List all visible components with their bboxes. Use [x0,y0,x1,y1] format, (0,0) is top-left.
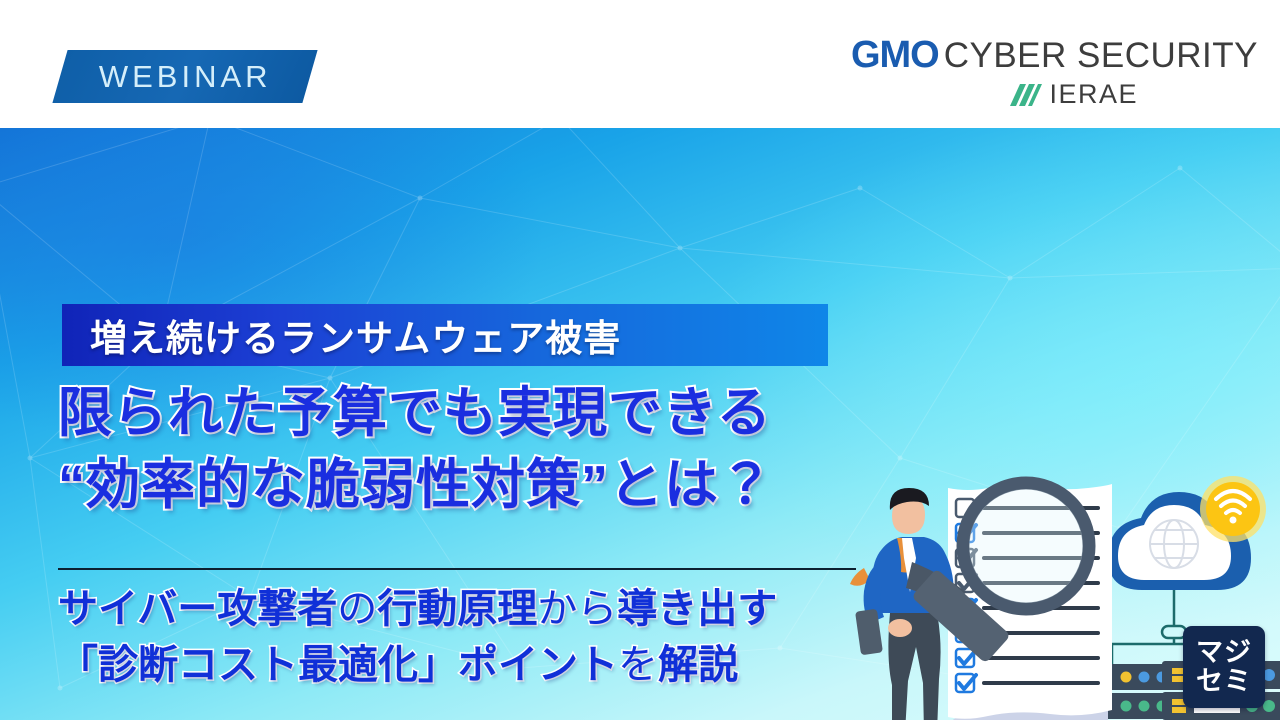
ribbon-label: 増え続けるランサムウェア被害 [90,308,621,362]
webinar-badge-label: WEBINAR [99,59,272,95]
divider-top [58,568,856,570]
subheadline-line-1: サイバー攻撃者の行動原理から導き出す [58,584,958,635]
ierae-wordmark: IERAE [1049,81,1138,108]
headline-line-2: “効率的な脆弱性対策”とは？ [58,450,978,522]
header-bar: WEBINAR GMO CYBER SECURITY IERAE [0,0,1280,128]
sub1-part3: 行動原理 [377,587,537,631]
brand-primary-row: GMO CYBER SECURITY [851,36,1258,74]
brand-logo: GMO CYBER SECURITY IERAE [851,36,1258,108]
ribbon-banner: 増え続けるランサムウェア被害 [62,304,828,366]
sub1-part1: サイバー攻撃者 [58,587,337,631]
gmo-wordmark: GMO [851,36,939,74]
webinar-badge: WEBINAR [52,50,317,103]
majisemi-line-2: セミ [1196,667,1252,696]
hero-section: 増え続けるランサムウェア被害 限られた予算でも実現できる “効率的な脆弱性対策”… [0,128,1280,720]
sub1-part2: の [337,587,377,631]
sub2-part1: 「診断コスト最適化」 [58,643,458,687]
wifi-badge-icon [1200,476,1266,542]
headline-line-1: 限られた予算でも実現できる [58,378,978,450]
webinar-banner: WEBINAR GMO CYBER SECURITY IERAE [0,0,1280,720]
sub1-part4: から [537,587,617,631]
cyber-security-wordmark: CYBER SECURITY [944,38,1258,73]
brand-secondary-row: IERAE [851,81,1138,108]
sub1-part5: 導き出す [617,587,777,631]
headline-block: 限られた予算でも実現できる “効率的な脆弱性対策”とは？ [58,378,978,522]
sub2-part3: を [618,643,658,687]
sub2-part4: 解説 [658,643,738,687]
subheadline-line-2: 「診断コスト最適化」ポイントを解説 [58,640,958,691]
sub2-part2: ポイント [458,643,618,687]
ierae-slashes-icon [1008,82,1042,108]
majisemi-logo: マジ セミ [1183,626,1265,708]
majisemi-line-1: マジ [1196,638,1252,667]
